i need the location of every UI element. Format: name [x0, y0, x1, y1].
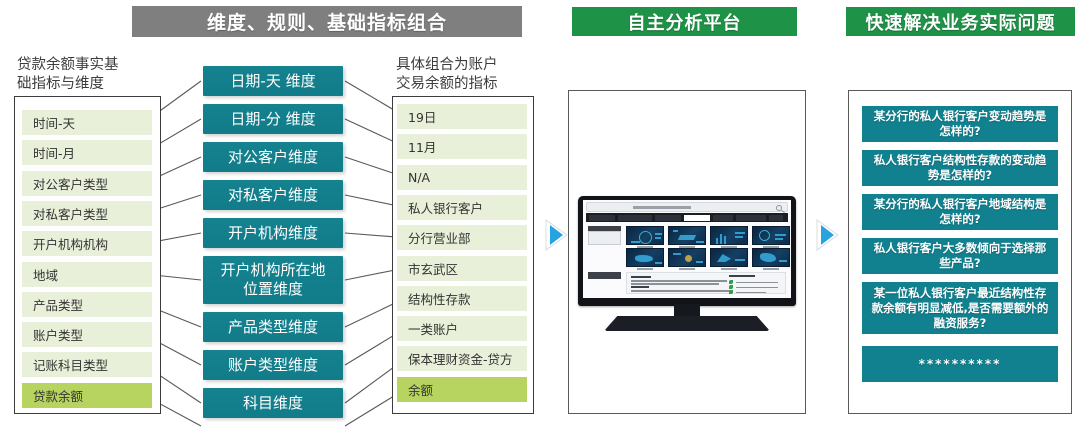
nav-tab	[655, 215, 681, 221]
browser-nav-tabs	[586, 213, 788, 222]
dimension-box: 账户类型维度	[203, 350, 343, 380]
dimension-label: 日期-天 维度	[230, 72, 315, 91]
dimension-label: 开户机构所在地 位置维度	[220, 261, 325, 299]
combined-value-chip: 私人银行客户	[397, 195, 527, 220]
question-text: 某分行的私人银行客户变动趋势是怎样的?	[869, 109, 1051, 139]
dimension-box: 日期-天 维度	[203, 66, 343, 96]
question-text: 某分行的私人银行客户地域结构是怎样的?	[869, 197, 1051, 227]
leaf-icon	[729, 285, 733, 289]
dimension-label: 日期-分 维度	[230, 110, 315, 129]
base-indicator-chip: 开户机构机构	[22, 231, 152, 256]
dimension-label: 账户类型维度	[228, 356, 318, 375]
question-box: 私人银行客户结构性存款的变动趋势是怎样的?	[862, 150, 1058, 186]
base-indicator-label: 时间-月	[33, 143, 75, 162]
nav-tab	[618, 215, 652, 221]
dimension-label: 对私客户维度	[228, 186, 318, 205]
arrow-stage-2-to-3	[814, 219, 840, 251]
leaf-icon	[729, 290, 733, 294]
combined-value-label: 一类账户	[408, 319, 458, 338]
combined-value-label: 保本理财资金-贷方	[408, 349, 513, 368]
base-indicator-chip: 时间-天	[22, 110, 152, 135]
base-indicator-chip: 对私客户类型	[22, 201, 152, 226]
section-header-questions: 快速解决业务实际问题	[846, 7, 1075, 36]
question-text: 私人银行客户大多数倾向于选择那些产品?	[869, 241, 1051, 271]
monitor-screen	[583, 200, 791, 298]
question-box: 私人银行客户大多数倾向于选择那些产品?	[862, 238, 1058, 274]
dimension-box: 对公客户维度	[203, 142, 343, 172]
combined-value-chip: 分行营业部	[397, 225, 527, 250]
screen-footer-legend	[729, 275, 781, 293]
dimension-box: 日期-分 维度	[203, 104, 343, 134]
base-indicator-label: 对公客户类型	[33, 174, 108, 193]
dimension-box: 对私客户维度	[203, 180, 343, 210]
dimension-box: 产品类型维度	[203, 312, 343, 342]
dashboard-thumbnail	[626, 248, 664, 267]
monitor-bezel	[578, 196, 796, 306]
question-text: **********	[919, 357, 1002, 372]
dashboard-thumbnail	[752, 248, 790, 267]
combined-value-chip: 余额	[397, 377, 527, 402]
base-indicator-chip: 产品类型	[22, 292, 152, 317]
nav-tab-active	[684, 215, 710, 221]
screen-sidebar-footer	[588, 272, 621, 279]
desktop-monitor-illustration	[578, 196, 796, 336]
question-box: 某分行的私人银行客户变动趋势是怎样的?	[862, 106, 1058, 142]
section-header-dimensions-label: 维度、规则、基础指标组合	[207, 8, 447, 35]
caption-base-indicators: 贷款余额事实基 础指标与维度	[17, 56, 147, 94]
section-header-questions-label: 快速解决业务实际问题	[866, 9, 1056, 35]
question-text: 私人银行客户结构性存款的变动趋势是怎样的?	[869, 153, 1051, 183]
screen-footer-text	[626, 272, 786, 294]
dimension-box: 开户机构所在地 位置维度	[203, 256, 343, 304]
leaf-icon	[729, 280, 733, 284]
combined-value-label: 市玄武区	[408, 259, 458, 278]
section-header-dimensions: 维度、规则、基础指标组合	[132, 6, 522, 37]
combined-value-label: 分行营业部	[408, 228, 471, 247]
combined-value-label: 19日	[408, 107, 436, 126]
browser-address-bar	[586, 202, 788, 212]
section-header-platform-label: 自主分析平台	[628, 9, 742, 35]
question-box: 某一位私人银行客户最近结构性存款余额有明显减低,是否需要额外的融资服务?	[862, 282, 1058, 334]
base-indicator-label: 对私客户类型	[33, 204, 108, 223]
base-indicator-label: 贷款余额	[33, 386, 83, 405]
dimension-label: 科目维度	[243, 394, 303, 413]
monitor-neck	[674, 304, 700, 318]
search-icon	[776, 205, 782, 211]
base-indicator-label: 开户机构机构	[33, 234, 108, 253]
combined-value-chip: 19日	[397, 104, 527, 129]
base-indicator-label: 时间-天	[33, 113, 75, 132]
base-indicator-chip: 时间-月	[22, 140, 152, 165]
base-indicator-chip: 贷款余额	[22, 383, 152, 408]
browser-url-text	[633, 206, 691, 209]
section-header-platform: 自主分析平台	[572, 7, 797, 36]
dimension-box: 科目维度	[203, 388, 343, 418]
arrow-stage-1-to-2	[543, 219, 569, 251]
question-box: **********	[862, 346, 1058, 382]
base-indicator-label: 账户类型	[33, 325, 83, 344]
dashboard-thumbnail	[626, 226, 664, 245]
combined-value-chip: N/A	[397, 165, 527, 190]
dashboard-thumbnail	[668, 248, 706, 267]
dashboard-thumbnail	[710, 226, 748, 245]
combined-value-label: 私人银行客户	[408, 198, 483, 217]
base-indicator-label: 产品类型	[33, 295, 83, 314]
combined-value-chip: 保本理财资金-贷方	[397, 346, 527, 371]
combined-value-label: 余额	[408, 380, 433, 399]
dimension-label: 对公客户维度	[228, 148, 318, 167]
dashboard-thumbnail	[752, 226, 790, 245]
combined-value-chip: 结构性存款	[397, 286, 527, 311]
dimension-box: 开户机构维度	[203, 218, 343, 248]
base-indicator-chip: 账户类型	[22, 322, 152, 347]
dashboard-thumbnail	[710, 248, 748, 267]
screen-sidebar-card	[588, 231, 621, 245]
monitor-base	[604, 316, 770, 331]
dashboard-thumbnail	[668, 226, 706, 245]
base-indicator-label: 地域	[33, 265, 58, 284]
base-indicator-label: 记账科目类型	[33, 355, 108, 374]
nav-tab	[736, 215, 766, 221]
question-text: 某一位私人银行客户最近结构性存款余额有明显减低,是否需要额外的融资服务?	[869, 286, 1051, 331]
nav-tab	[769, 215, 783, 221]
base-indicator-chip: 对公客户类型	[22, 171, 152, 196]
base-indicator-chip: 记账科目类型	[22, 352, 152, 377]
combined-value-chip: 11月	[397, 134, 527, 159]
caption-combined-values: 具体组合为账户 交易余额的指标	[396, 56, 526, 94]
dimension-label: 产品类型维度	[228, 318, 318, 337]
question-box: 某分行的私人银行客户地域结构是怎样的?	[862, 194, 1058, 230]
combined-value-chip: 市玄武区	[397, 256, 527, 281]
combined-value-label: 11月	[408, 137, 436, 156]
base-indicator-chip: 地域	[22, 262, 152, 287]
nav-tab	[589, 215, 615, 221]
nav-tab	[713, 215, 733, 221]
dimension-label: 开户机构维度	[228, 224, 318, 243]
combined-value-label: 结构性存款	[408, 289, 471, 308]
combined-value-label: N/A	[408, 170, 430, 185]
combined-value-chip: 一类账户	[397, 316, 527, 341]
